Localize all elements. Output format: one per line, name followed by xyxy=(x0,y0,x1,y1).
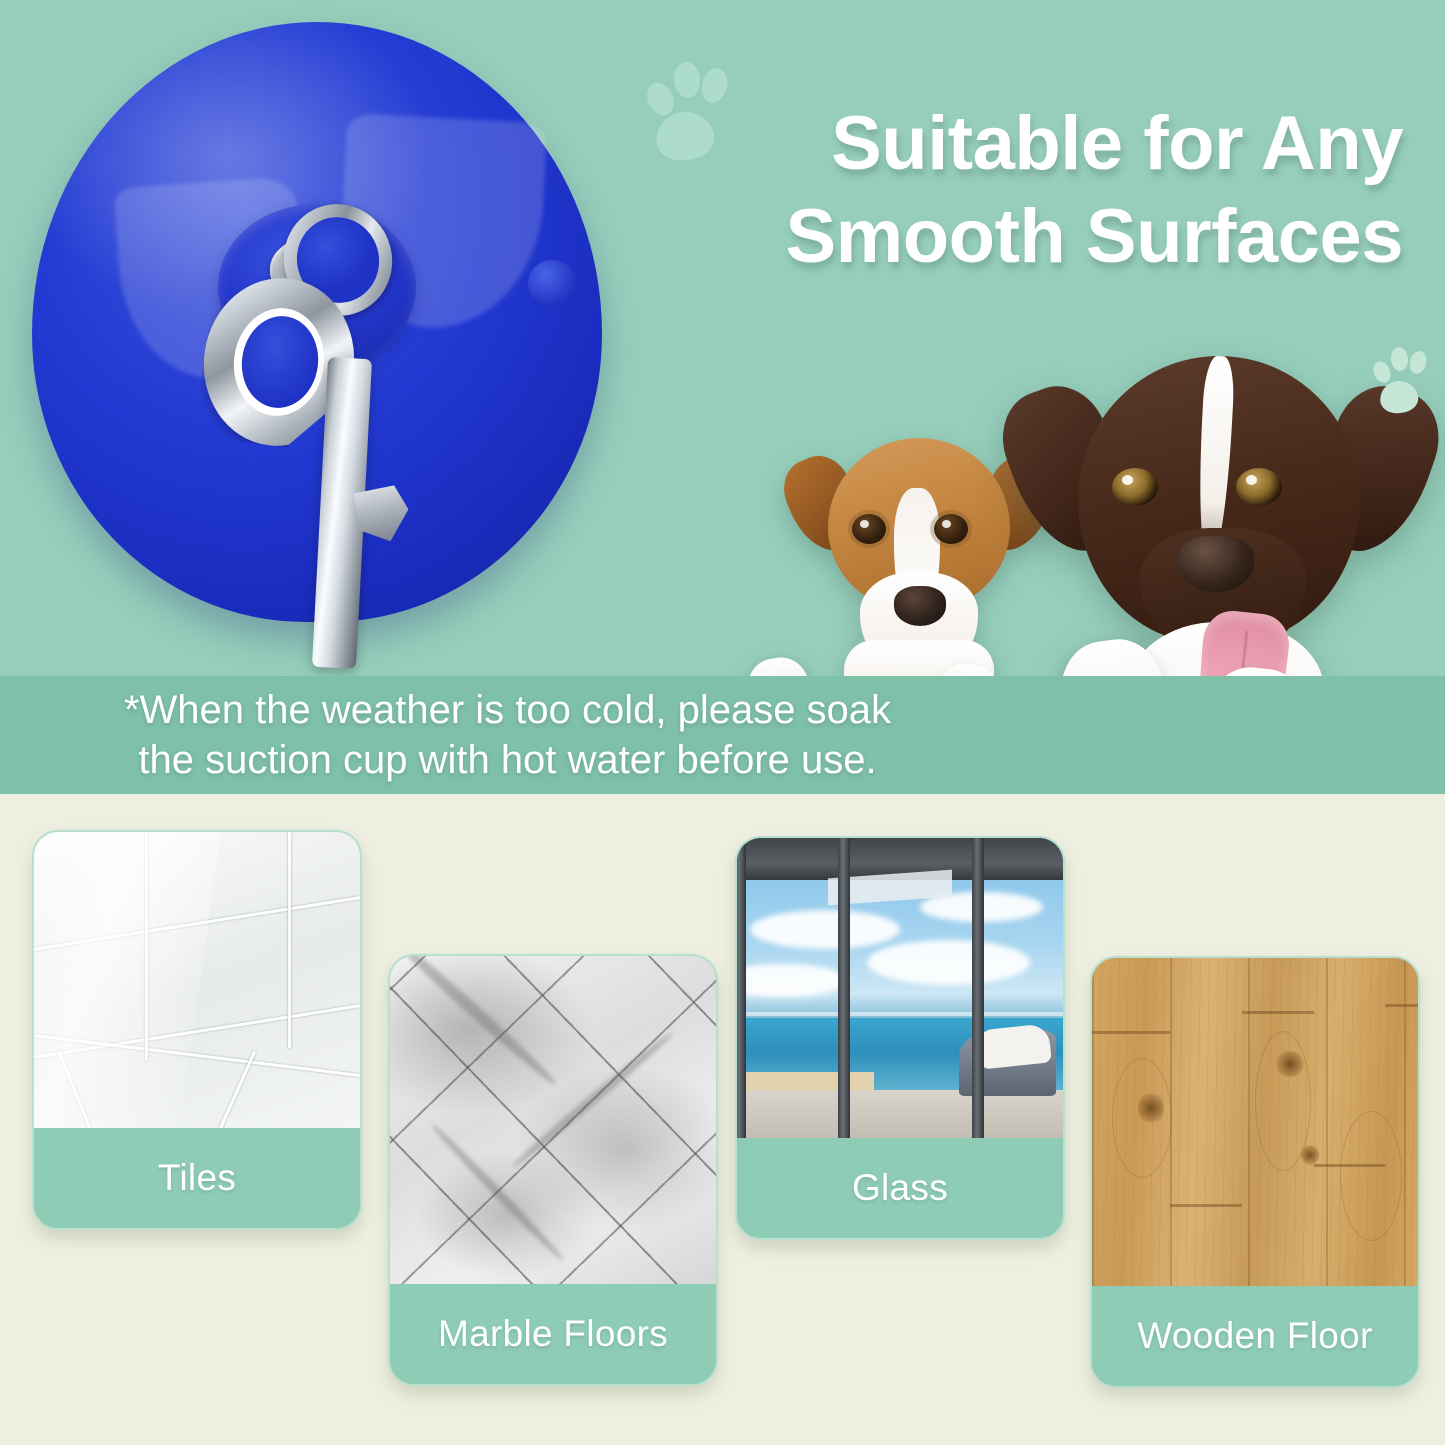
surface-card-tiles[interactable]: Tiles xyxy=(32,830,362,1230)
surface-image-tiles xyxy=(34,832,360,1132)
infographic-page: Suitable for Any Smooth Surfaces xyxy=(0,0,1445,1445)
surface-card-wood[interactable]: Wooden Floor xyxy=(1090,956,1420,1388)
headline-line-1: Suitable for Any xyxy=(831,101,1403,186)
product-image-suction-cup xyxy=(32,22,632,672)
suction-cup-tab xyxy=(528,260,576,306)
surface-label-marble: Marble Floors xyxy=(390,1284,716,1384)
surface-card-glass[interactable]: Glass xyxy=(735,836,1065,1240)
headline-line-2: Smooth Surfaces xyxy=(643,191,1403,284)
swivel-snap-hook xyxy=(192,272,412,502)
surface-label-glass: Glass xyxy=(737,1138,1063,1238)
surface-image-marble xyxy=(390,956,716,1288)
glass-door-scene xyxy=(737,838,1063,1138)
surface-cards-section: Tiles Marble Floors xyxy=(0,794,1445,1445)
surface-image-wood xyxy=(1092,958,1418,1290)
disclaimer-text: *When the weather is too cold, please so… xyxy=(8,685,1008,786)
surface-label-wood: Wooden Floor xyxy=(1092,1286,1418,1386)
tile-texture xyxy=(34,832,360,1132)
marble-texture xyxy=(390,956,716,1288)
disclaimer-banner: *When the weather is too cold, please so… xyxy=(0,676,1445,794)
disclaimer-line-2: the suction cup with hot water before us… xyxy=(8,735,1008,785)
surface-image-glass xyxy=(737,838,1063,1138)
disclaimer-line-1: *When the weather is too cold, please so… xyxy=(124,688,891,732)
wood-plank-texture xyxy=(1092,958,1418,1290)
surface-label-tiles: Tiles xyxy=(34,1128,360,1228)
page-title: Suitable for Any Smooth Surfaces xyxy=(643,98,1403,283)
surface-card-marble[interactable]: Marble Floors xyxy=(388,954,718,1386)
